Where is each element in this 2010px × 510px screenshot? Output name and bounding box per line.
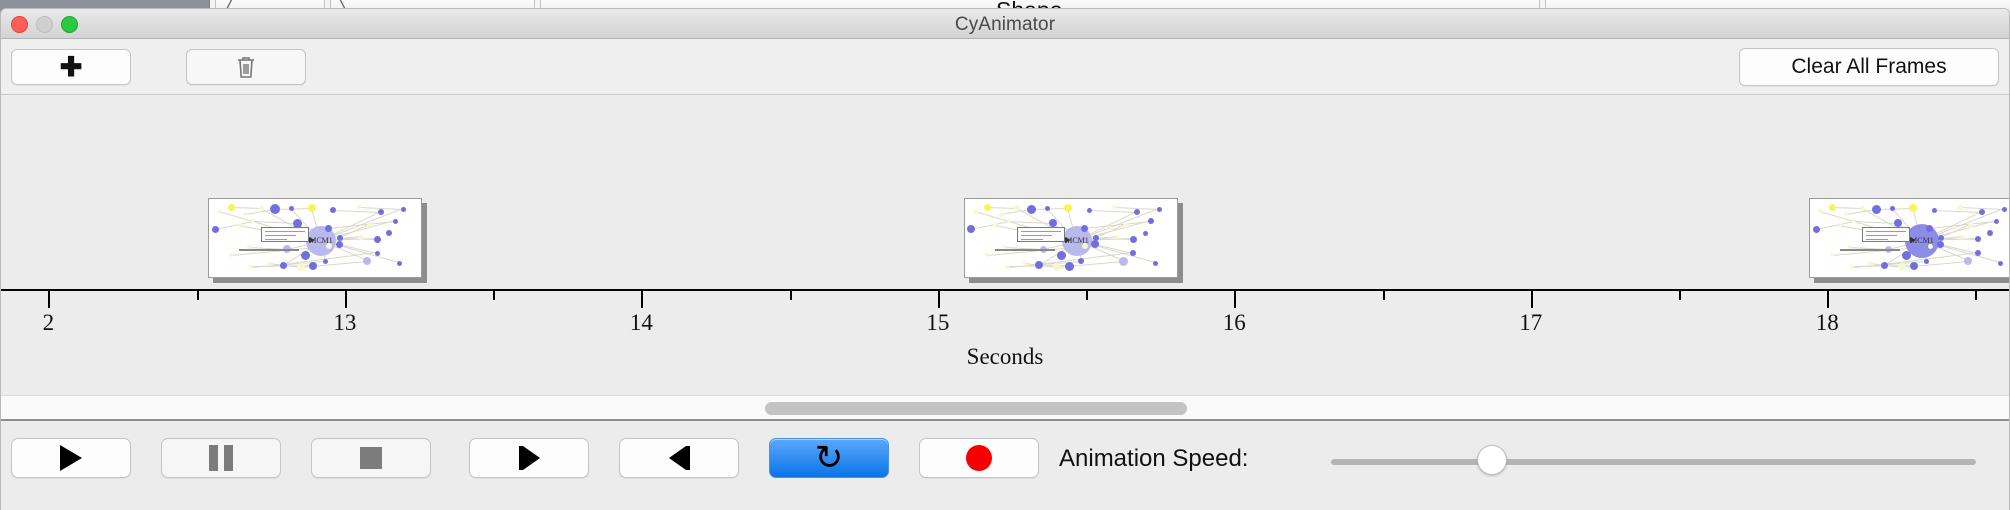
play-button[interactable] <box>11 438 131 478</box>
pause-button[interactable] <box>161 438 281 478</box>
network-node <box>1064 204 1072 212</box>
annotation-arrow-icon <box>1065 237 1071 243</box>
network-node <box>1123 223 1128 228</box>
network-node <box>1987 230 1993 236</box>
stop-button[interactable] <box>311 438 431 478</box>
network-node <box>393 219 398 224</box>
timeline-panel[interactable]: MCM1MCM1MCM1 Seconds 2131415161718 <box>1 95 2009 395</box>
keyframe-thumbnail[interactable]: MCM1 <box>208 198 422 278</box>
axis-tick-minor <box>493 291 495 300</box>
network-node <box>249 265 253 269</box>
network-node <box>357 205 361 209</box>
network-node <box>228 204 235 211</box>
annotation-arrow-icon <box>309 237 315 243</box>
animation-speed-label: Animation Speed: <box>1059 445 1248 473</box>
keyframe-network-preview: MCM1 <box>965 199 1177 277</box>
network-node <box>212 226 219 233</box>
network-node <box>308 204 316 212</box>
network-node <box>363 257 371 265</box>
axis-tick-major <box>1531 291 1533 308</box>
network-node <box>1153 261 1158 266</box>
network-node <box>1958 205 1963 210</box>
slider-thumb[interactable] <box>1477 445 1507 475</box>
axis-tick-major <box>641 291 643 308</box>
cyanimator-window: CyAnimator ✚ Clear All Frames MCM1MCM1MC… <box>0 8 2010 510</box>
window-title: CyAnimator <box>1 14 2009 36</box>
network-edge <box>1089 210 1137 213</box>
network-node <box>1968 223 1973 228</box>
network-node <box>1932 208 1937 213</box>
network-annotation-box <box>261 227 309 242</box>
skip-to-start-button[interactable] <box>469 438 589 478</box>
network-node <box>401 207 406 212</box>
network-node <box>1994 219 1999 224</box>
network-edge <box>275 208 312 210</box>
network-node <box>1850 265 1854 269</box>
network-node <box>1005 265 1009 269</box>
axis-tick-label: 17 <box>1519 310 1542 336</box>
annotation-arrow-icon <box>1910 237 1916 243</box>
network-node <box>1119 257 1128 266</box>
network-node <box>289 206 294 211</box>
skip-to-end-button[interactable] <box>619 438 739 478</box>
axis-tick-minor <box>1679 291 1681 300</box>
skip-to-end-icon <box>669 446 690 470</box>
annotation-text-line <box>1866 235 1897 236</box>
network-node <box>1898 263 1906 271</box>
network-node <box>1979 209 1985 215</box>
network-node <box>1830 253 1834 257</box>
network-node <box>1087 208 1092 213</box>
playback-controls: ↻ Animation Speed: <box>1 421 2009 505</box>
axis-line <box>1 289 2009 291</box>
network-node <box>1910 262 1918 270</box>
network-node <box>1035 261 1043 269</box>
network-node <box>297 263 305 271</box>
network-node <box>1078 258 1084 264</box>
network-node <box>1924 259 1929 264</box>
network-node <box>1844 212 1848 216</box>
network-edge <box>231 207 261 209</box>
network-node <box>397 261 402 266</box>
record-icon <box>966 445 992 471</box>
network-node <box>259 206 264 211</box>
axis-tick-major <box>938 291 940 308</box>
loop-icon: ↻ <box>815 443 844 473</box>
annotation-text-line <box>1021 235 1052 236</box>
axis-title: Seconds <box>1 344 2009 370</box>
network-node <box>1829 204 1836 211</box>
timeline-axis: Seconds 2131415161718 <box>1 289 2009 395</box>
keyframe-thumbnail[interactable]: MCM1 <box>1809 198 2010 278</box>
network-node <box>378 209 384 215</box>
network-node <box>1027 205 1036 214</box>
network-node <box>1926 225 1933 232</box>
axis-tick-major <box>1827 291 1829 308</box>
timeline-scrollbar[interactable] <box>1 395 2009 421</box>
keyframe-layer: MCM1MCM1MCM1 <box>1 95 2009 290</box>
network-edge <box>1832 207 1862 209</box>
network-node <box>330 207 336 213</box>
axis-tick-minor <box>197 291 199 300</box>
network-node <box>237 223 242 228</box>
network-node <box>1081 225 1088 232</box>
network-node <box>1890 206 1895 211</box>
trash-icon <box>236 55 256 79</box>
network-edge <box>987 207 1017 209</box>
network-node <box>1902 251 1911 260</box>
network-node <box>1975 250 1981 256</box>
window-titlebar[interactable]: CyAnimator <box>1 9 2009 39</box>
network-node <box>1045 206 1050 211</box>
network-node <box>1057 251 1066 260</box>
network-node <box>270 204 280 214</box>
network-node <box>1872 205 1881 214</box>
axis-tick-major <box>48 291 50 308</box>
loop-button[interactable]: ↻ <box>769 438 889 478</box>
network-edge <box>971 221 1009 230</box>
network-node <box>280 262 287 269</box>
network-node <box>967 225 975 233</box>
annotation-text-line <box>265 235 296 236</box>
network-node <box>1134 209 1140 215</box>
network-node <box>229 253 233 257</box>
network-node <box>1937 241 1944 248</box>
network-node <box>336 241 343 248</box>
network-edge <box>333 210 381 213</box>
network-node <box>999 212 1004 217</box>
network-node <box>1975 236 1981 242</box>
timeline-scrollbar-thumb[interactable] <box>765 402 1187 415</box>
network-node <box>973 209 978 214</box>
plus-icon: ✚ <box>60 57 83 77</box>
keyframe-network-preview: MCM1 <box>209 199 421 277</box>
annotation-text-line <box>1866 239 1888 240</box>
stop-icon <box>360 447 382 469</box>
axis-tick-minor <box>1975 291 1977 300</box>
record-button[interactable] <box>919 438 1039 478</box>
network-edge <box>1031 208 1068 210</box>
network-node <box>309 262 317 270</box>
axis-tick-minor <box>1383 291 1385 300</box>
frame-toolbar: ✚ Clear All Frames <box>1 39 2009 95</box>
network-annotation-box <box>1862 227 1910 242</box>
network-caption <box>995 249 1055 251</box>
network-edge <box>1816 221 1854 230</box>
network-node <box>1964 257 1972 265</box>
keyframe-thumbnail[interactable]: MCM1 <box>964 198 1178 278</box>
axis-tick-major <box>345 291 347 308</box>
network-node <box>374 236 381 243</box>
axis-tick-label: 18 <box>1816 310 1839 336</box>
animation-speed-slider[interactable] <box>1331 457 1976 465</box>
network-edge <box>215 221 253 230</box>
network-node <box>1113 205 1117 209</box>
network-caption <box>239 249 299 251</box>
network-node <box>2002 207 2007 212</box>
network-node <box>375 251 380 256</box>
network-node <box>1148 218 1154 224</box>
network-node <box>1998 261 2003 266</box>
axis-tick-label: 13 <box>333 310 356 336</box>
network-node <box>1053 263 1061 271</box>
network-node <box>325 225 332 232</box>
network-edge <box>1876 208 1913 210</box>
network-node <box>985 253 989 257</box>
network-node <box>301 251 310 260</box>
annotation-text-line <box>1866 231 1906 232</box>
network-node <box>1065 262 1074 271</box>
network-node <box>1130 236 1137 243</box>
slider-track[interactable] <box>1331 459 1976 465</box>
annotation-text-line <box>265 239 287 240</box>
axis-tick-major <box>1234 291 1236 308</box>
add-frame-button[interactable]: ✚ <box>11 49 131 85</box>
network-node <box>1130 250 1136 256</box>
network-caption <box>1840 249 1900 251</box>
annotation-text-line <box>265 231 305 232</box>
network-node <box>984 204 991 211</box>
axis-tick-minor <box>1086 291 1088 300</box>
pause-icon <box>209 445 233 471</box>
network-node <box>1818 209 1823 214</box>
network-node <box>217 209 222 214</box>
axis-tick-label: 16 <box>1223 310 1246 336</box>
network-node <box>1881 262 1888 269</box>
axis-tick-label: 14 <box>630 310 653 336</box>
delete-frame-button[interactable] <box>186 49 306 85</box>
axis-tick-label: 2 <box>43 310 55 336</box>
network-node <box>1157 207 1162 212</box>
network-node <box>243 212 247 216</box>
network-node <box>359 235 364 240</box>
network-node <box>1813 226 1820 233</box>
clear-all-frames-label: Clear All Frames <box>1791 55 1946 79</box>
skip-to-start-icon <box>519 446 540 470</box>
play-icon <box>60 445 82 471</box>
annotation-text-line <box>1021 231 1061 232</box>
network-node <box>1909 204 1917 212</box>
network-node <box>1143 231 1148 236</box>
network-node <box>323 259 328 264</box>
clear-all-frames-button[interactable]: Clear All Frames <box>1739 48 1999 86</box>
network-node <box>386 230 392 236</box>
network-node <box>1860 206 1865 211</box>
network-edge <box>1934 210 1982 213</box>
annotation-text-line <box>1021 239 1043 240</box>
keyframe-network-preview: MCM1 <box>1810 199 2010 277</box>
axis-tick-minor <box>790 291 792 300</box>
network-annotation-box <box>1017 227 1065 242</box>
axis-tick-label: 15 <box>926 310 949 336</box>
